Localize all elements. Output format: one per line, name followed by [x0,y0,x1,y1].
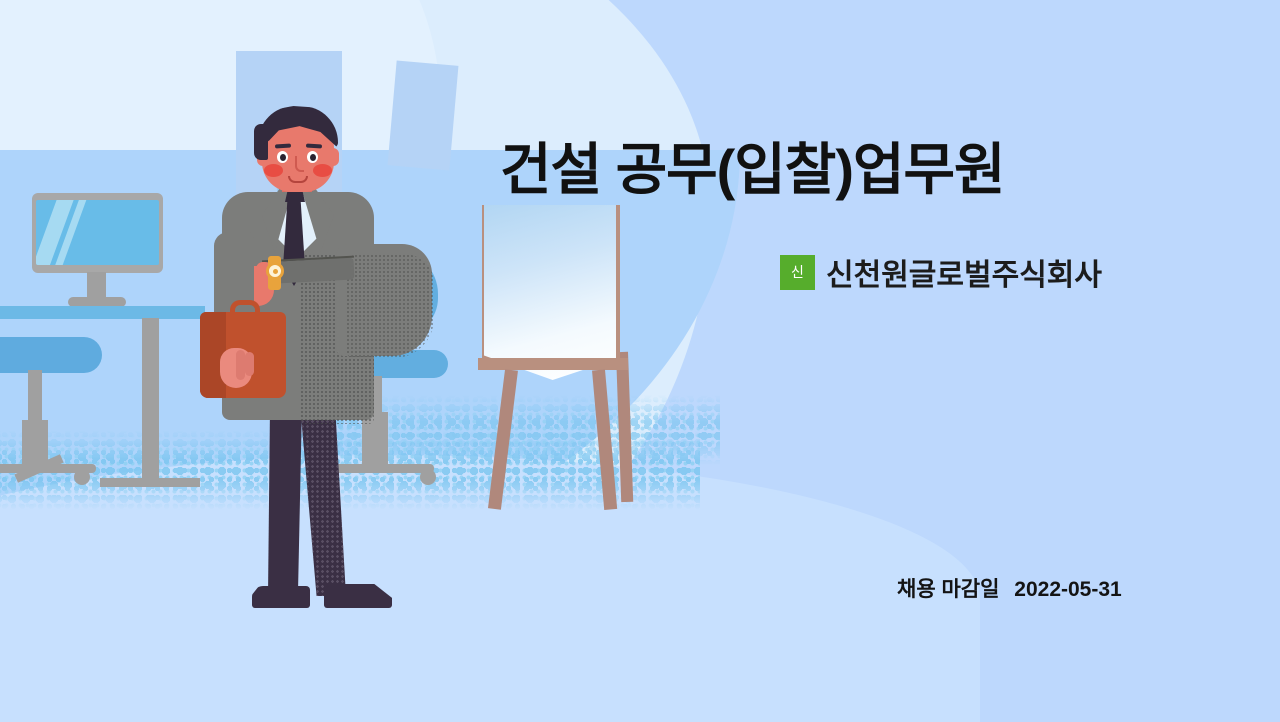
deadline-date: 2022-05-31 [1014,578,1121,601]
shoe-right [324,584,392,608]
desk-foot [100,478,200,487]
office-chair-front-caster [74,469,90,485]
shoe-left [252,586,310,608]
easel-tray [478,358,628,370]
office-chair-front-seat [0,337,102,373]
wristwatch-dial-center [273,269,278,274]
businessman-illustration [196,104,436,614]
chart-bar [1045,499,1058,524]
desk-surface [0,306,205,319]
chart-bar [1008,469,1021,523]
bar-chart [984,447,1090,525]
chart-x-axis [984,523,1088,525]
chart-bar [990,488,1003,523]
deadline-label: 채용 마감일 [897,578,999,601]
arm-upper-right-texture [346,254,434,358]
deadline-text: 채용 마감일 2022-05-31 [897,573,1122,603]
cheek-blush-right [313,164,332,177]
monitor-screen [36,200,159,265]
chart-bar [1064,505,1077,523]
flip-chart-paper [484,205,616,380]
leg-right-texture [300,404,346,596]
pupil-left [280,154,286,161]
finger-left-2 [245,352,254,376]
office-chair-front-post [28,370,42,426]
chart-bell-curve [986,449,1090,521]
monitor-stand-neck [87,272,106,300]
desk-leg [142,318,159,483]
cheek-blush-left [264,164,283,177]
pupil-right [310,154,316,161]
chart-bar [1027,474,1040,523]
nose [295,156,304,172]
finger-left-1 [236,350,245,380]
company-name: 신천원글로벌주식회사 [826,250,1102,294]
chart-y-axis [984,447,986,521]
company-row[interactable]: 신 신천원글로벌주식회사 [780,250,1102,294]
company-logo-badge: 신 [780,255,815,290]
page-title: 건설 공무(입찰)업무원 [500,139,1200,202]
job-posting-banner: 건설 공무(입찰)업무원 신 신천원글로벌주식회사 채용 마감일 2022-05… [0,0,1280,722]
leg-left [268,404,302,596]
